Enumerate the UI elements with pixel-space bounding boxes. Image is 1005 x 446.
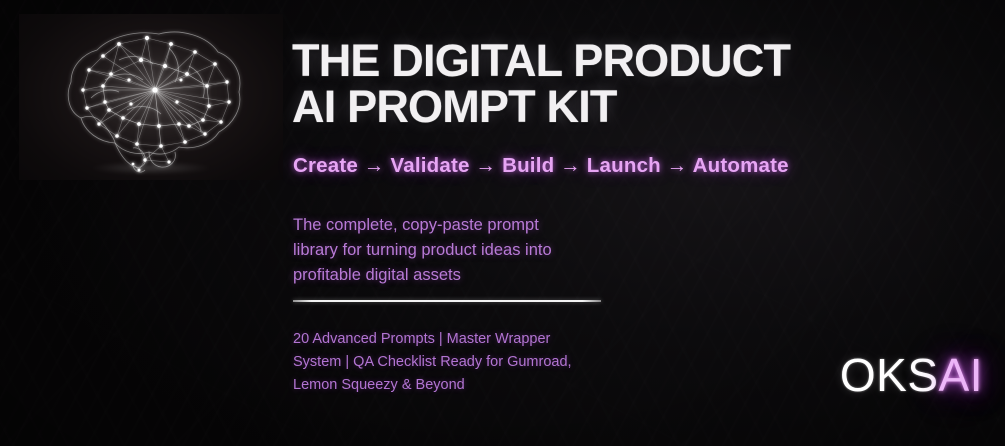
brain-reflection-glow [71,160,231,176]
divider-rule [293,300,601,302]
brand-logo: OKSAI [840,352,983,398]
logo-primary-text: OKS [840,349,939,401]
workflow-steps-line: Create → Validate → Build → Launch → Aut… [293,154,789,178]
features-text: 20 Advanced Prompts | Master Wrapper Sys… [293,328,623,397]
page-title: THE DIGITAL PRODUCT AI PROMPT KIT [292,38,790,130]
brain-graphic-panel [19,14,283,180]
brain-network-icon [19,14,283,180]
promo-banner: THE DIGITAL PRODUCT AI PROMPT KIT Create… [0,0,1005,446]
logo-accent-text: AI [939,349,983,401]
description-text: The complete, copy-paste prompt library … [293,213,633,288]
